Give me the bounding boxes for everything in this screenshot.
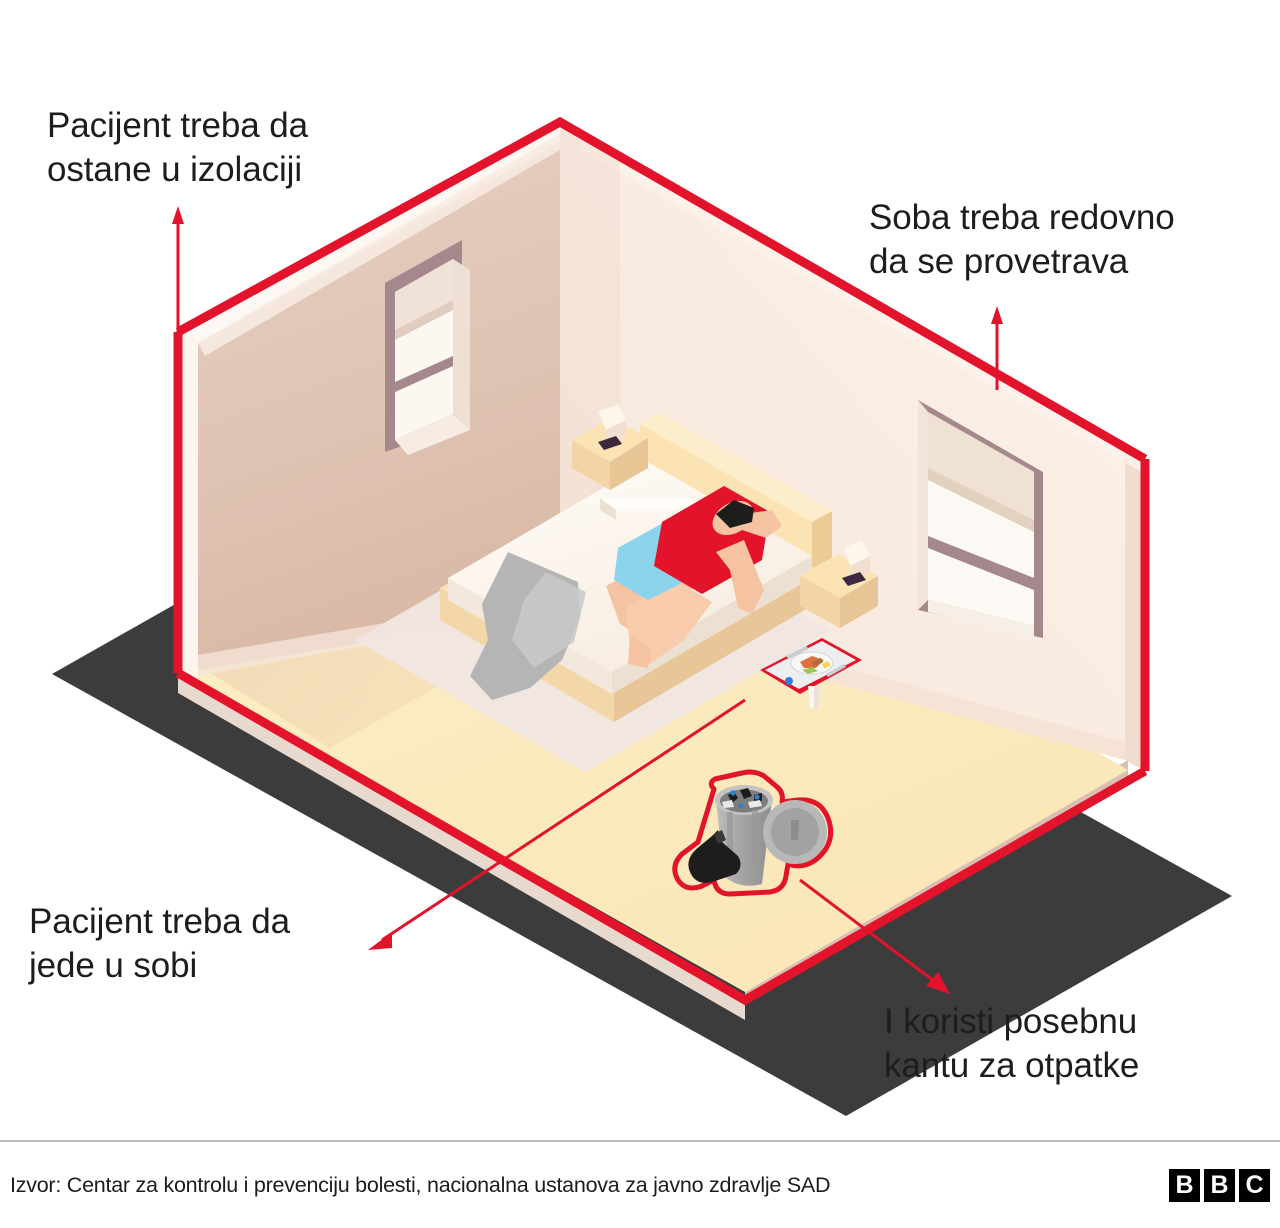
footer: Izvor: Centar za kontrolu i prevenciju b… <box>0 1140 1280 1228</box>
infographic-root: Pacijent treba da ostane u izolaciji Sob… <box>0 0 1280 1228</box>
window-left-reveal <box>453 259 470 430</box>
bbc-logo: B B C <box>1169 1169 1280 1202</box>
callout-bottom-left: Pacijent treba da jede u sobi <box>29 900 429 988</box>
callout-bottom-right: I koristi posebnu kantu za otpatke <box>884 1000 1280 1088</box>
bbc-logo-letter-3: C <box>1239 1169 1270 1202</box>
trash-bin-lid-handle <box>791 820 799 840</box>
bbc-logo-letter-2: B <box>1204 1169 1235 1202</box>
source-attribution: Izvor: Centar za kontrolu i prevenciju b… <box>0 1173 830 1198</box>
trash-bin-rib-2 <box>752 810 758 866</box>
tray-dot <box>785 677 793 685</box>
window-right-reveal <box>918 400 928 610</box>
arrowhead-top-left <box>172 206 184 224</box>
callout-top-right: Soba treba redovno da se provetrava <box>869 196 1280 284</box>
bbc-logo-letter-1: B <box>1169 1169 1200 1202</box>
callout-top-left: Pacijent treba da ostane u izolaciji <box>47 104 467 192</box>
arrowhead-top-right <box>991 306 1003 324</box>
